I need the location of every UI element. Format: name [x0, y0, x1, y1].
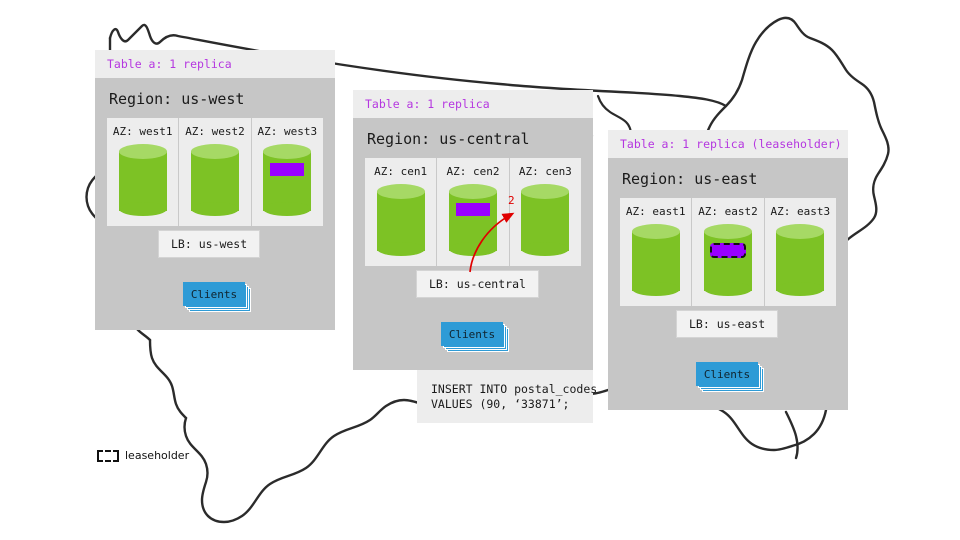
load-balancer-box[interactable]: LB: us-central	[416, 270, 539, 298]
diagram-canvas: Table a: 1 replica Region: us-west AZ: w…	[0, 0, 960, 540]
region-title: Region: us-central	[353, 118, 593, 158]
node-cylinder[interactable]	[191, 144, 239, 216]
az-cell-cen1[interactable]: AZ: cen1	[365, 158, 437, 266]
az-row: AZ: east1 AZ: east2 AZ: east3	[620, 198, 836, 306]
region-replica-header: Table a: 1 replica	[95, 50, 335, 78]
region-panel-us-west: Table a: 1 replica Region: us-west AZ: w…	[95, 50, 335, 330]
cylinder-top	[449, 184, 497, 199]
load-balancer-box[interactable]: LB: us-east	[676, 310, 778, 338]
az-label: AZ: east3	[765, 205, 836, 218]
clients-label[interactable]: Clients	[696, 362, 758, 386]
cylinder-bottom	[449, 242, 497, 256]
legend: leaseholder	[97, 449, 189, 462]
az-label: AZ: cen3	[510, 165, 581, 178]
node-cylinder[interactable]	[632, 224, 680, 296]
az-cell-west3[interactable]: AZ: west3	[252, 118, 323, 226]
az-label: AZ: cen1	[365, 165, 436, 178]
routing-step-label: 2	[508, 194, 515, 207]
az-cell-west1[interactable]: AZ: west1	[107, 118, 179, 226]
cylinder-bottom	[704, 282, 752, 296]
cylinder-bottom	[632, 282, 680, 296]
region-panel-us-east: Table a: 1 replica (leaseholder) Region:…	[608, 130, 848, 410]
cylinder-top	[521, 184, 569, 199]
node-cylinder[interactable]	[449, 184, 497, 256]
leaseholder-replica-marker	[710, 243, 746, 258]
clients-label[interactable]: Clients	[441, 322, 503, 346]
clients-stack[interactable]: Clients	[183, 282, 245, 306]
clients-stack[interactable]: Clients	[441, 322, 503, 346]
clients-label[interactable]: Clients	[183, 282, 245, 306]
cylinder-bottom	[263, 202, 311, 216]
az-row: AZ: cen1 AZ: cen2 AZ: cen3	[365, 158, 581, 266]
legend-label: leaseholder	[125, 449, 189, 462]
cylinder-bottom	[119, 202, 167, 216]
clients-stack[interactable]: Clients	[696, 362, 758, 386]
load-balancer-box[interactable]: LB: us-west	[158, 230, 260, 258]
az-label: AZ: east2	[692, 205, 763, 218]
node-cylinder[interactable]	[263, 144, 311, 216]
leaseholder-swatch-icon	[97, 450, 119, 462]
sql-statement-note: INSERT INTO postal_codes VALUES (90, ‘33…	[417, 370, 593, 423]
node-cylinder[interactable]	[119, 144, 167, 216]
az-cell-cen2[interactable]: AZ: cen2	[437, 158, 509, 266]
cylinder-top	[191, 144, 239, 159]
region-title: Region: us-east	[608, 158, 848, 198]
az-cell-cen3[interactable]: AZ: cen3	[510, 158, 581, 266]
node-cylinder[interactable]	[704, 224, 752, 296]
region-title: Region: us-west	[95, 78, 335, 118]
cylinder-top	[377, 184, 425, 199]
node-cylinder[interactable]	[521, 184, 569, 256]
cylinder-top	[119, 144, 167, 159]
cylinder-top	[263, 144, 311, 159]
cylinder-top	[776, 224, 824, 239]
az-cell-east3[interactable]: AZ: east3	[765, 198, 836, 306]
az-label: AZ: cen2	[437, 165, 508, 178]
cylinder-bottom	[776, 282, 824, 296]
region-replica-header: Table a: 1 replica	[353, 90, 593, 118]
az-label: AZ: west3	[252, 125, 323, 138]
az-cell-east2[interactable]: AZ: east2	[692, 198, 764, 306]
cylinder-top	[704, 224, 752, 239]
region-replica-header: Table a: 1 replica (leaseholder)	[608, 130, 848, 158]
cylinder-top	[632, 224, 680, 239]
cylinder-bottom	[521, 242, 569, 256]
az-cell-east1[interactable]: AZ: east1	[620, 198, 692, 306]
node-cylinder[interactable]	[377, 184, 425, 256]
replica-marker	[270, 163, 304, 176]
az-cell-west2[interactable]: AZ: west2	[179, 118, 251, 226]
node-cylinder[interactable]	[776, 224, 824, 296]
cylinder-bottom	[191, 202, 239, 216]
az-row: AZ: west1 AZ: west2 AZ: west3	[107, 118, 323, 226]
region-panel-us-central: Table a: 1 replica Region: us-central AZ…	[353, 90, 593, 370]
az-label: AZ: east1	[620, 205, 691, 218]
replica-marker	[456, 203, 490, 216]
az-label: AZ: west2	[179, 125, 250, 138]
az-label: AZ: west1	[107, 125, 178, 138]
cylinder-bottom	[377, 242, 425, 256]
